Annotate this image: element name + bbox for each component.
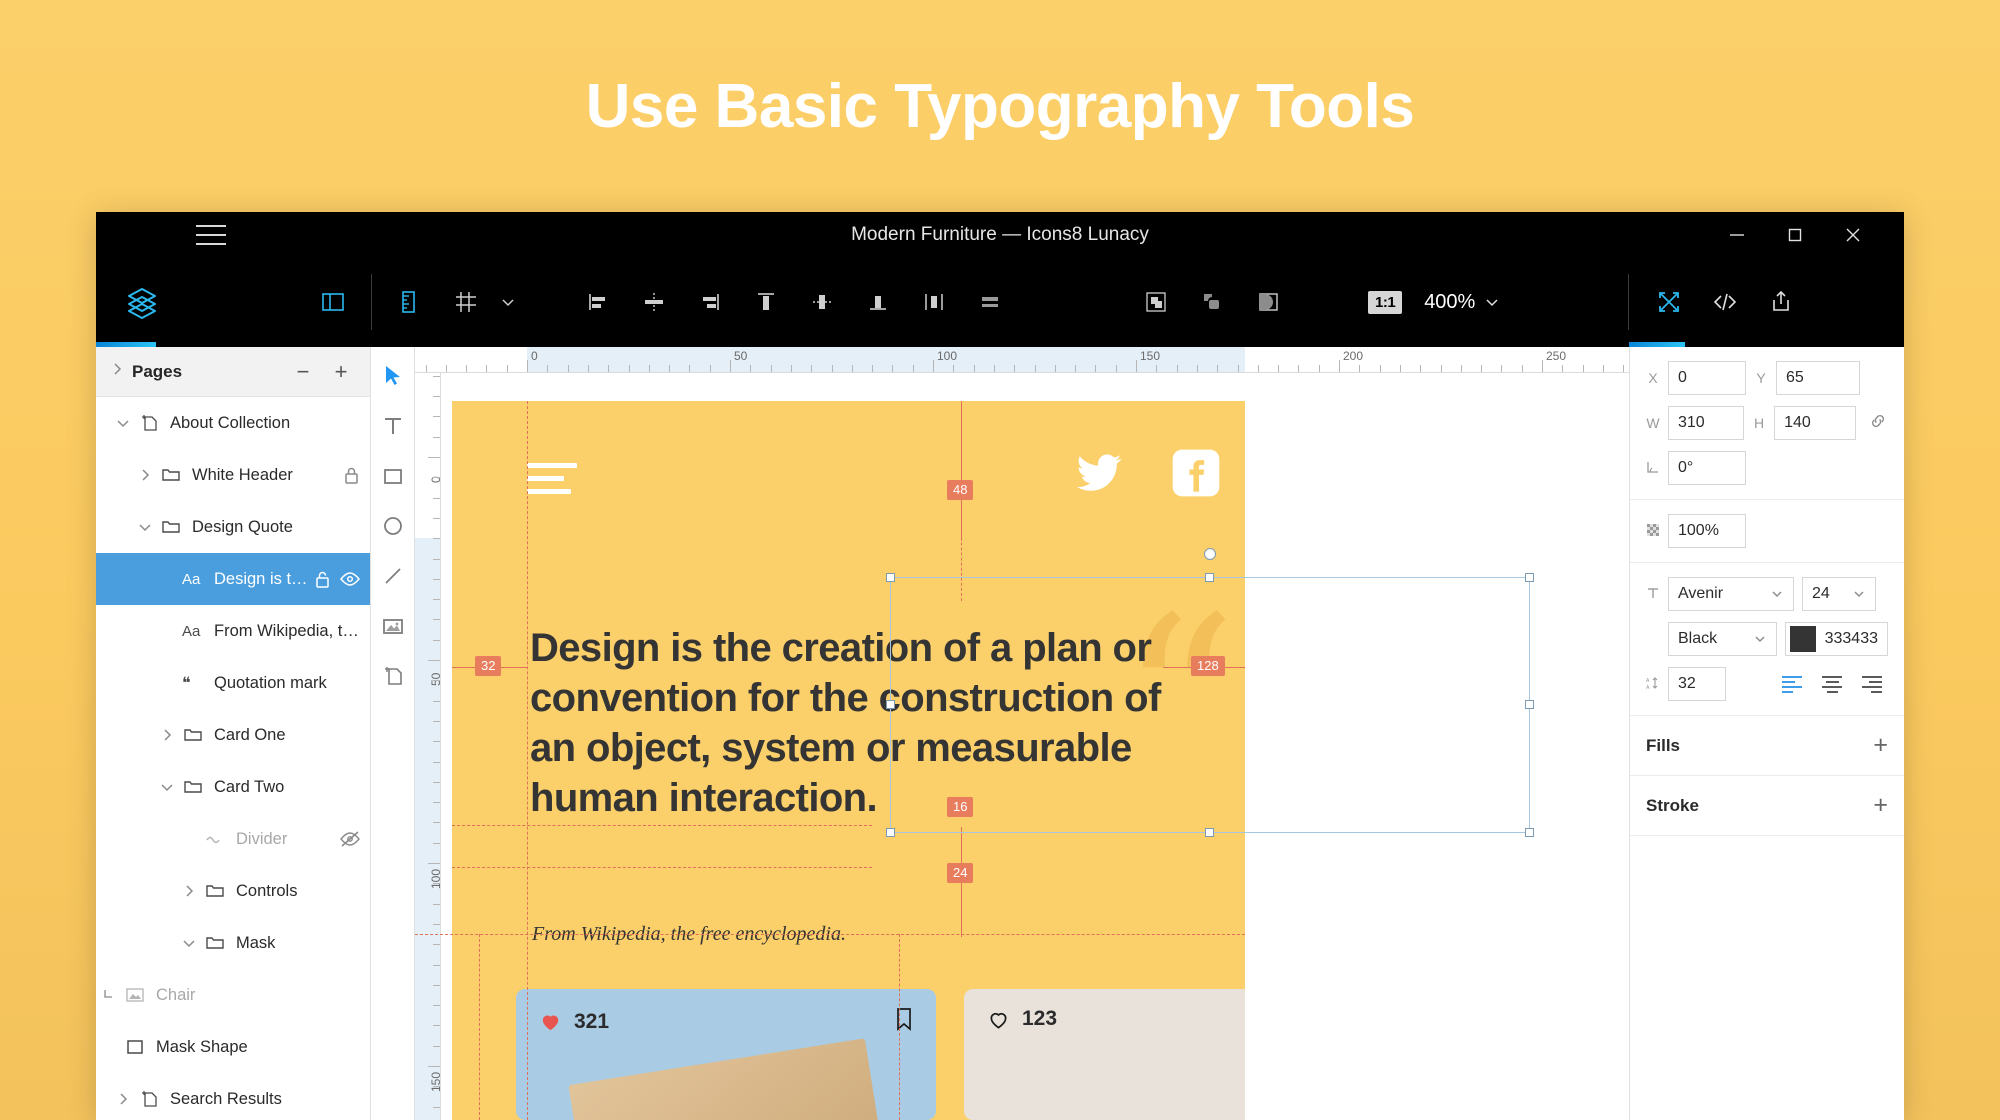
layer-row-search-results[interactable]: Search Results xyxy=(96,1073,370,1120)
app-window: Modern Furniture — Icons8 Lunacy xyxy=(96,212,1904,1120)
font-size-value: 24 xyxy=(1812,585,1830,603)
svg-text:❝: ❝ xyxy=(182,674,191,692)
folder-icon xyxy=(202,881,228,901)
ruler-tick xyxy=(1481,365,1482,372)
image-icon[interactable] xyxy=(372,605,414,647)
layer-name: From Wikipedia, the free… xyxy=(214,622,360,641)
ruler-tick xyxy=(1197,365,1198,372)
card-one-likes: 321 xyxy=(574,1010,609,1034)
line-height-icon: AA xyxy=(1646,676,1660,693)
ruler-tick xyxy=(933,360,934,372)
remove-page-button[interactable]: − xyxy=(288,357,318,387)
align-left-icon[interactable] xyxy=(570,273,626,331)
ruler-tick xyxy=(433,1046,440,1047)
ruler-tick xyxy=(1278,365,1279,372)
ruler-tick xyxy=(953,365,954,372)
ruler-tick xyxy=(1339,360,1340,372)
layer-actions xyxy=(314,570,360,589)
ruler-tick xyxy=(791,365,792,372)
panel-toggle-icon[interactable] xyxy=(305,273,361,331)
rectangle-icon[interactable] xyxy=(372,455,414,497)
opacity-section: 100% xyxy=(1630,500,1904,563)
canvas-area[interactable]: 050100150200250 050100150 “ Design is th… xyxy=(415,347,1629,1120)
layer-actions xyxy=(340,831,360,847)
ruler-tick xyxy=(433,762,440,763)
guide-source-top xyxy=(452,825,872,826)
link-proportions-icon[interactable] xyxy=(1868,411,1888,436)
ruler-tick xyxy=(428,457,440,458)
ruler-tick xyxy=(1461,365,1462,372)
layer-name: Design Quote xyxy=(192,518,360,537)
horizontal-ruler[interactable]: 050100150200250 xyxy=(415,347,1629,373)
spacing-badge-card: 24 xyxy=(947,863,973,883)
ruler-tick xyxy=(428,1066,440,1067)
mask-arrow-icon[interactable] xyxy=(96,988,122,1002)
card-two-likes: 123 xyxy=(1022,1007,1057,1031)
ruler-active-band-v xyxy=(415,538,441,1120)
rotation-input[interactable]: 0° xyxy=(1668,451,1746,485)
grid-icon[interactable] xyxy=(438,273,494,331)
layer-row-from-wikipedia-the-free[interactable]: AaFrom Wikipedia, the free… xyxy=(96,605,370,657)
chevron-right-icon[interactable] xyxy=(110,1092,136,1106)
ruler-tick xyxy=(750,365,751,372)
guide-card-left xyxy=(479,934,480,1120)
add-stroke-button[interactable]: + xyxy=(1873,793,1888,818)
chevron-down-icon xyxy=(1770,587,1784,601)
zoom-level-value: 400% xyxy=(1424,291,1475,314)
chevron-down-icon xyxy=(1484,294,1500,310)
svg-text:A: A xyxy=(1646,685,1650,690)
ratio-1-1-button[interactable]: 1:1 xyxy=(1368,291,1402,314)
ruler-tick xyxy=(433,477,440,478)
active-tab-underline xyxy=(96,342,156,347)
text-align-center-icon[interactable] xyxy=(1816,671,1848,697)
layer-row-card-one[interactable]: Card One xyxy=(96,709,370,761)
pages-header: Pages − + xyxy=(96,347,370,397)
unlock-icon[interactable] xyxy=(314,570,331,589)
font-size-select[interactable]: 24 xyxy=(1802,577,1876,611)
ruler-tick xyxy=(811,365,812,372)
layers-panel: Pages − + About CollectionWhite HeaderDe… xyxy=(96,347,371,1120)
layer-row-about-collection[interactable]: About Collection xyxy=(96,397,370,449)
geometry-section: X 0 Y 65 W 310 H 140 xyxy=(1630,347,1904,500)
layer-row-white-header[interactable]: White Header xyxy=(96,449,370,501)
ruler-tick xyxy=(1623,365,1624,372)
ruler-tick xyxy=(426,365,427,372)
chevron-down-icon[interactable] xyxy=(494,294,522,310)
chevron-right-icon[interactable] xyxy=(154,728,180,742)
text-layer-icon: Aa xyxy=(180,622,206,640)
height-input[interactable]: 140 xyxy=(1774,406,1856,440)
ruler-tick xyxy=(433,376,440,377)
layer-name: Controls xyxy=(236,882,360,901)
ruler-tick xyxy=(1441,365,1442,372)
ruler-tick xyxy=(433,883,440,884)
bookmark-icon[interactable] xyxy=(894,1007,914,1036)
vertical-ruler[interactable]: 050100150 xyxy=(415,373,441,1120)
ruler-tick xyxy=(433,579,440,580)
ruler-tick xyxy=(433,640,440,641)
width-input[interactable]: 310 xyxy=(1668,406,1744,440)
align-middle-vertical-icon[interactable] xyxy=(794,273,850,331)
text-align-right-icon[interactable] xyxy=(1856,671,1888,697)
ruler-tick xyxy=(428,863,440,864)
layer-name: White Header xyxy=(192,466,343,485)
ruler-tick xyxy=(1156,365,1157,372)
spacing-badge-left: 32 xyxy=(475,656,501,676)
tool-rail xyxy=(371,347,415,1120)
font-color-hex: 333433 xyxy=(1825,630,1878,648)
heart-filled-icon[interactable] xyxy=(538,1010,563,1033)
folder-icon xyxy=(158,465,184,485)
ruler-tick xyxy=(433,904,440,905)
layer-name: Card One xyxy=(214,726,360,745)
code-icon[interactable] xyxy=(1697,273,1753,331)
opacity-input[interactable]: 100% xyxy=(1668,514,1746,548)
ruler-tick xyxy=(1014,365,1015,372)
ruler-tick xyxy=(433,619,440,620)
chevron-down-icon[interactable] xyxy=(110,416,136,430)
layer-name: About Collection xyxy=(170,414,360,433)
font-color-field[interactable]: 333433 xyxy=(1785,622,1888,656)
align-center-horizontal-icon[interactable] xyxy=(626,273,682,331)
ruler-tick xyxy=(1562,365,1563,372)
line-height-input[interactable]: 32 xyxy=(1668,667,1726,701)
artboard-icon xyxy=(136,413,162,433)
layer-row-design-is-the-crea[interactable]: AaDesign is the crea… xyxy=(96,553,370,605)
ruler-tick xyxy=(1075,365,1076,372)
ruler-tick xyxy=(433,701,440,702)
mask-icon[interactable] xyxy=(1128,273,1184,331)
ruler-tick xyxy=(1136,360,1137,372)
fills-section-header[interactable]: Fills + xyxy=(1630,716,1904,776)
ruler-label-h: 0 xyxy=(531,349,538,363)
layer-name: Chair xyxy=(156,986,360,1005)
ruler-tick xyxy=(1542,360,1543,372)
ruler-tick xyxy=(852,365,853,372)
y-label: Y xyxy=(1754,370,1768,386)
layer-row-mask[interactable]: Mask xyxy=(96,917,370,969)
ruler-tick xyxy=(588,365,589,372)
ruler-tick xyxy=(689,365,690,372)
fills-label: Fills xyxy=(1646,736,1680,756)
layer-name: Card Two xyxy=(214,778,360,797)
minimize-icon[interactable] xyxy=(1708,212,1766,257)
layer-row-chair[interactable]: Chair xyxy=(96,969,370,1021)
ruler-tick xyxy=(892,365,893,372)
ruler-tick xyxy=(608,365,609,372)
distribute-horizontal-icon[interactable] xyxy=(906,273,962,331)
ruler-tick xyxy=(433,822,440,823)
svg-text:Aa: Aa xyxy=(182,623,201,640)
font-weight-value: Black xyxy=(1678,630,1717,648)
chevron-down-icon[interactable] xyxy=(154,780,180,794)
chevron-right-icon[interactable] xyxy=(132,468,158,482)
artboard-icon xyxy=(136,1089,162,1109)
ruler-tick xyxy=(1035,365,1036,372)
ruler-tick xyxy=(1319,365,1320,372)
layer-name: Search Results xyxy=(170,1090,360,1109)
chevron-down-icon xyxy=(1852,587,1866,601)
ruler-tick xyxy=(1583,365,1584,372)
ruler-label-h: 250 xyxy=(1546,349,1566,363)
ruler-tick xyxy=(1359,365,1360,372)
ruler-tick xyxy=(433,1086,440,1087)
ruler-tick xyxy=(433,985,440,986)
ruler-tick xyxy=(433,1107,440,1108)
x-input[interactable]: 0 xyxy=(1668,361,1746,395)
workspace: Pages − + About CollectionWhite HeaderDe… xyxy=(96,347,1904,1120)
rotation-icon xyxy=(1646,460,1660,477)
stroke-label: Stroke xyxy=(1646,796,1699,816)
chevron-down-icon xyxy=(1753,632,1767,646)
inspector-panel: X 0 Y 65 W 310 H 140 xyxy=(1629,347,1904,1120)
ruler-tick xyxy=(433,396,440,397)
ruler-tick xyxy=(1501,365,1502,372)
rect-layer-icon xyxy=(122,1038,148,1056)
text-icon[interactable] xyxy=(372,405,414,447)
ruler-label-v: 100 xyxy=(429,869,441,889)
ruler-tick xyxy=(433,721,440,722)
heart-outline-icon[interactable] xyxy=(986,1008,1011,1031)
lock-icon[interactable] xyxy=(343,466,360,485)
text-align-left-icon[interactable] xyxy=(1776,671,1808,697)
y-input[interactable]: 65 xyxy=(1776,361,1860,395)
opacity-icon xyxy=(1646,523,1660,540)
line-icon[interactable] xyxy=(372,555,414,597)
lunacy-layers-logo[interactable] xyxy=(114,273,170,331)
ruler-tick xyxy=(649,365,650,372)
ruler-tick xyxy=(527,360,528,372)
window-controls xyxy=(1708,212,1882,257)
ruler-tick xyxy=(433,498,440,499)
layer-row-quotation-mark[interactable]: ❝Quotation mark xyxy=(96,657,370,709)
page-banner: Use Basic Typography Tools xyxy=(0,0,2000,212)
guide-left-dashed xyxy=(527,401,528,1120)
zoom-level-selector[interactable]: 400% xyxy=(1424,291,1500,314)
svg-text:A: A xyxy=(1646,678,1650,684)
quote-text-layer[interactable]: Design is the creation of a plan or conv… xyxy=(530,623,1170,823)
ruler-tick xyxy=(507,365,508,372)
window-title: Modern Furniture — Icons8 Lunacy xyxy=(96,224,1904,246)
w-label: W xyxy=(1646,415,1660,431)
ruler-tick xyxy=(433,924,440,925)
squiggle-icon xyxy=(202,832,228,846)
ruler-label-h: 50 xyxy=(734,349,747,363)
ruler-tick xyxy=(1217,365,1218,372)
boolean-subtract-icon[interactable] xyxy=(1240,273,1296,331)
h-label: H xyxy=(1752,415,1766,431)
guide-card-top xyxy=(415,934,1245,935)
layer-name: Divider xyxy=(236,830,340,849)
ruler-tick xyxy=(994,365,995,372)
layer-name: Quotation mark xyxy=(214,674,360,693)
main-toolbar: 1:1 400% xyxy=(96,257,1904,347)
ruler-label-h: 100 xyxy=(937,349,957,363)
ruler-tick xyxy=(433,416,440,417)
cursor-icon[interactable] xyxy=(372,355,414,397)
ruler-tick xyxy=(428,660,440,661)
ruler-tick xyxy=(872,365,873,372)
layer-name: Mask Shape xyxy=(156,1038,360,1057)
folder-icon xyxy=(180,777,206,797)
handle-middle-right[interactable] xyxy=(1525,700,1534,709)
ruler-tick xyxy=(433,1005,440,1006)
card-one[interactable]: 321 xyxy=(516,989,936,1120)
layer-row-divider[interactable]: Divider xyxy=(96,813,370,865)
ruler-tick xyxy=(710,365,711,372)
guide-source-bottom xyxy=(452,867,872,868)
distribute-vertical-icon[interactable] xyxy=(962,273,1018,331)
layer-row-card-two[interactable]: Card Two xyxy=(96,761,370,813)
align-top-icon[interactable] xyxy=(738,273,794,331)
folder-icon xyxy=(202,933,228,953)
ruler-icon[interactable] xyxy=(382,273,438,331)
layer-name: Design is the crea… xyxy=(214,570,314,589)
twitter-icon xyxy=(1071,449,1127,497)
ruler-tick xyxy=(433,538,440,539)
ruler-tick xyxy=(446,365,447,372)
card-two[interactable]: 123 xyxy=(964,989,1245,1120)
ruler-tick xyxy=(974,365,975,372)
ellipse-icon[interactable] xyxy=(372,505,414,547)
ruler-tick xyxy=(433,1025,440,1026)
facebook-icon xyxy=(1167,445,1225,501)
ruler-tick xyxy=(433,843,440,844)
layer-row-mask-shape[interactable]: Mask Shape xyxy=(96,1021,370,1073)
ruler-tick xyxy=(1603,365,1604,372)
handle-bottom-right[interactable] xyxy=(1525,828,1534,837)
active-tool-underline xyxy=(1629,342,1685,347)
artboard-about-collection[interactable]: “ Design is the creation of a plan or co… xyxy=(452,401,1245,1120)
folder-icon xyxy=(158,517,184,537)
font-family-value: Avenir xyxy=(1678,585,1723,603)
folder-icon xyxy=(180,725,206,745)
ruler-tick xyxy=(568,365,569,372)
measure-line-top xyxy=(961,401,962,541)
layer-actions xyxy=(343,466,360,485)
toolbar-logo-zone xyxy=(96,257,371,347)
ruler-label-h: 150 xyxy=(1140,349,1160,363)
font-color-swatch[interactable] xyxy=(1790,626,1816,652)
typography-section: Avenir 24 Black 333433 xyxy=(1630,563,1904,716)
spacing-badge-bottom: 16 xyxy=(947,797,973,817)
ruler-label-v: 150 xyxy=(429,1072,441,1092)
layer-name: Mask xyxy=(236,934,360,953)
guide-card-right xyxy=(899,934,900,1120)
ruler-tick xyxy=(1095,365,1096,372)
layer-row-controls[interactable]: Controls xyxy=(96,865,370,917)
eye-icon[interactable] xyxy=(340,571,360,587)
ruler-tick xyxy=(1258,365,1259,372)
stroke-section-header[interactable]: Stroke + xyxy=(1630,776,1904,836)
ruler-tick xyxy=(1238,365,1239,372)
maximize-icon[interactable] xyxy=(1766,212,1824,257)
ruler-tick xyxy=(433,944,440,945)
add-page-button[interactable]: + xyxy=(326,357,356,387)
spacing-badge-top: 48 xyxy=(947,480,973,500)
pages-label: Pages xyxy=(132,362,280,382)
chevron-right-icon[interactable] xyxy=(176,884,202,898)
x-label: X xyxy=(1646,370,1660,386)
ruler-tick xyxy=(433,741,440,742)
ruler-tick xyxy=(433,518,440,519)
export-icon[interactable] xyxy=(1753,273,1809,331)
font-family-select[interactable]: Avenir xyxy=(1668,577,1794,611)
ruler-tick xyxy=(669,365,670,372)
ruler-tick xyxy=(771,365,772,372)
ruler-tick xyxy=(1116,365,1117,372)
ruler-tick xyxy=(547,365,548,372)
font-weight-select[interactable]: Black xyxy=(1668,622,1777,656)
eye-off-icon[interactable] xyxy=(340,831,360,847)
ruler-tick xyxy=(486,365,487,372)
handle-top-right[interactable] xyxy=(1525,573,1534,582)
chevron-down-icon[interactable] xyxy=(132,520,158,534)
layer-list: About CollectionWhite HeaderDesign Quote… xyxy=(96,397,370,1120)
ruler-tick xyxy=(832,365,833,372)
toolbar-divider xyxy=(371,274,372,330)
image-layer-icon xyxy=(122,986,148,1004)
title-bar: Modern Furniture — Icons8 Lunacy xyxy=(96,212,1904,257)
spacing-badge-right: 128 xyxy=(1191,656,1225,676)
fit-to-screen-icon[interactable] xyxy=(1641,273,1697,331)
ruler-active-band-h xyxy=(527,347,1245,373)
quote-layer-icon: ❝ xyxy=(180,674,206,692)
ruler-tick xyxy=(1522,365,1523,372)
ruler-tick xyxy=(433,437,440,438)
ruler-tick xyxy=(466,365,467,372)
ruler-tick xyxy=(433,559,440,560)
ruler-tick xyxy=(1380,365,1381,372)
ruler-tick xyxy=(433,782,440,783)
svg-text:Aa: Aa xyxy=(182,571,201,588)
chevron-down-icon[interactable] xyxy=(176,936,202,950)
ruler-tick xyxy=(1400,365,1401,372)
ruler-tick xyxy=(1298,365,1299,372)
ruler-tick xyxy=(1420,365,1421,372)
ruler-tick xyxy=(433,599,440,600)
type-icon xyxy=(1646,586,1660,603)
close-icon[interactable] xyxy=(1824,212,1882,257)
chevron-right-icon[interactable] xyxy=(110,362,124,381)
layer-row-design-quote[interactable]: Design Quote xyxy=(96,501,370,553)
ruler-tick xyxy=(433,680,440,681)
ruler-tick xyxy=(629,365,630,372)
artboard-icon[interactable] xyxy=(372,655,414,697)
add-fill-button[interactable]: + xyxy=(1873,733,1888,758)
align-bottom-icon[interactable] xyxy=(850,273,906,331)
ruler-tick xyxy=(433,965,440,966)
ruler-label-h: 200 xyxy=(1343,349,1363,363)
ruler-tick xyxy=(433,802,440,803)
ruler-tick xyxy=(913,365,914,372)
ruler-tick xyxy=(1055,365,1056,372)
ruler-tick xyxy=(730,360,731,372)
align-right-icon[interactable] xyxy=(682,273,738,331)
artboard-hamburger-icon xyxy=(527,463,577,494)
boolean-union-icon[interactable] xyxy=(1184,273,1240,331)
text-layer-icon: Aa xyxy=(180,570,206,588)
ruler-tick xyxy=(1177,365,1178,372)
banner-headline: Use Basic Typography Tools xyxy=(586,71,1415,142)
